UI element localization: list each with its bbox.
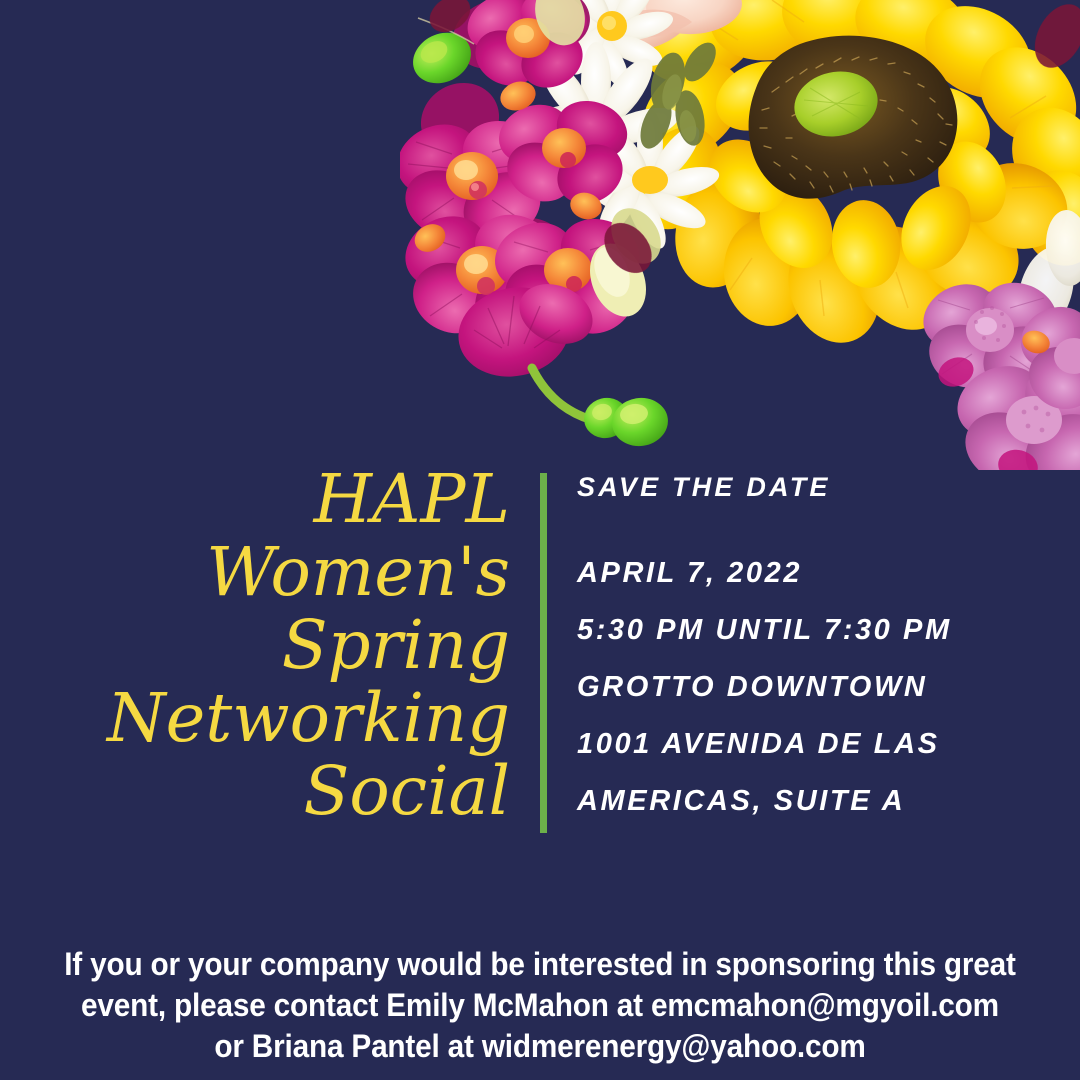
maroon-leaf-graphic bbox=[423, 0, 1080, 282]
peach-petal-graphic bbox=[545, 0, 743, 62]
event-address-line-2: AMERICAS, SUITE A bbox=[577, 784, 1047, 818]
event-details: SAVE THE DATE APRIL 7, 2022 5:30 PM UNTI… bbox=[577, 470, 1047, 818]
sunflower-graphic bbox=[617, 0, 1080, 356]
sunflower-center bbox=[749, 36, 958, 199]
title-line-1: HAPL bbox=[40, 463, 510, 536]
title-line-2: Women's bbox=[40, 536, 510, 609]
sunflower-eye bbox=[788, 64, 883, 144]
flyer-canvas: HAPL Women's Spring Networking Social SA… bbox=[0, 0, 1080, 1080]
event-time: 5:30 PM UNTIL 7:30 PM bbox=[577, 613, 1047, 647]
sponsor-line-3: or Briana Pantel at widmerenergy@yahoo.c… bbox=[49, 1026, 1031, 1067]
event-date: APRIL 7, 2022 bbox=[577, 556, 1047, 590]
foliage-graphic bbox=[634, 37, 722, 153]
title-line-4: Networking bbox=[40, 682, 510, 755]
title-line-5: Social bbox=[40, 755, 510, 828]
floral-bouquet-photo bbox=[400, 0, 1080, 470]
cream-bud-graphic bbox=[527, 0, 671, 325]
event-address-line-1: 1001 AVENIDA DE LAS bbox=[577, 727, 1047, 761]
stem-whisker-graphic bbox=[418, 18, 474, 44]
white-daisy-graphic bbox=[507, 0, 1080, 399]
vertical-divider bbox=[540, 473, 547, 833]
pink-orchid-graphic bbox=[913, 272, 1080, 470]
stem-with-buds-graphic bbox=[532, 368, 671, 450]
sponsor-line-2: event, please contact Emily McMahon at e… bbox=[49, 985, 1031, 1026]
magenta-orchid-graphic bbox=[400, 0, 649, 387]
save-the-date-heading: SAVE THE DATE bbox=[577, 470, 1047, 504]
sponsorship-message: If you or your company would be interest… bbox=[0, 944, 1080, 1067]
event-venue: GROTTO DOWNTOWN bbox=[577, 670, 1047, 704]
sponsor-line-1: If you or your company would be interest… bbox=[49, 944, 1031, 985]
green-bud-top-graphic bbox=[405, 23, 480, 92]
event-title: HAPL Women's Spring Networking Social bbox=[40, 463, 510, 828]
title-line-3: Spring bbox=[40, 609, 510, 682]
orange-accent-graphic bbox=[410, 77, 606, 258]
